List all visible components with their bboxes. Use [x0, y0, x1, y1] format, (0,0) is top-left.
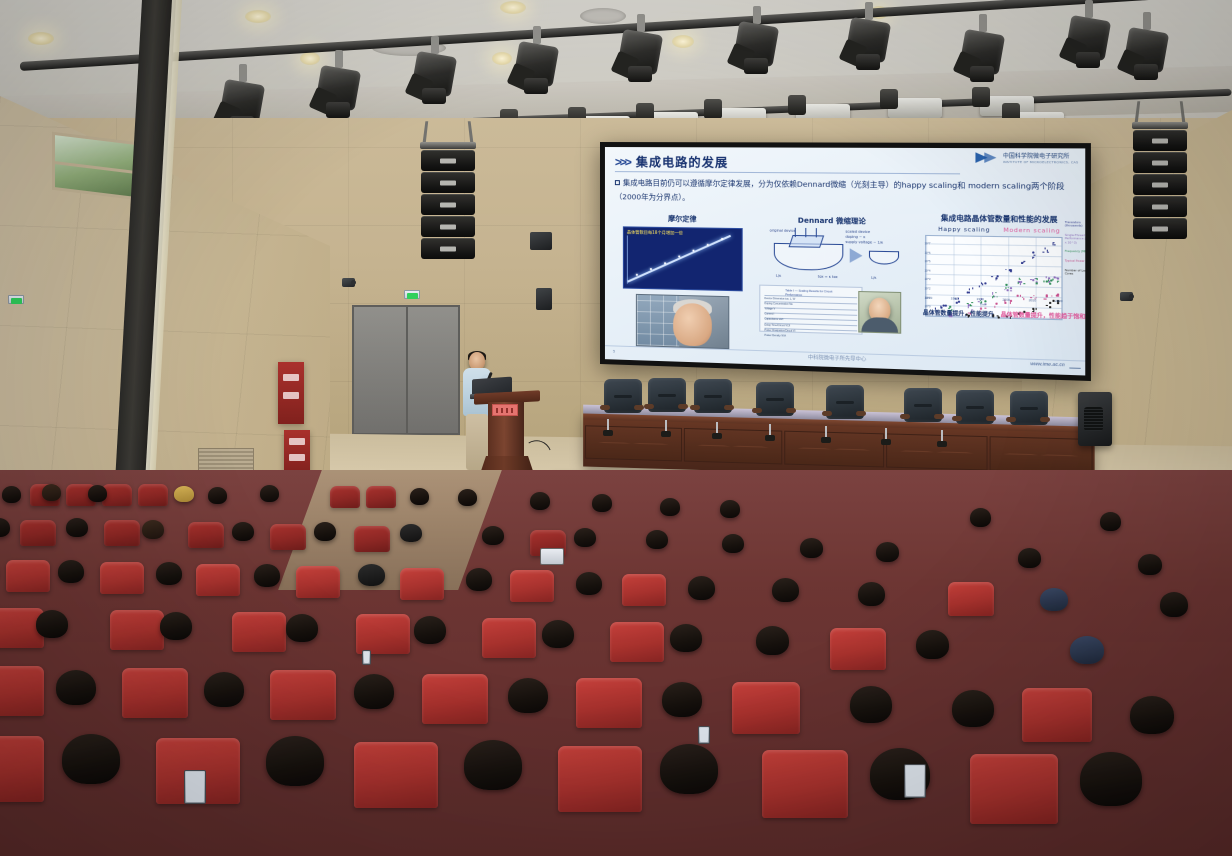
audience-head [466, 568, 492, 591]
chart-data-point [996, 302, 998, 304]
chart-data-point [1010, 290, 1012, 292]
dn-label-tox: tox = κ tox [818, 275, 838, 280]
stage-chair [822, 385, 866, 429]
stage-chair [1006, 391, 1050, 435]
theater-seat [400, 568, 444, 600]
slide-panels: 摩尔定律 晶体管数目每18个月增加一倍 [605, 213, 1085, 358]
dn-label-supply: supply voltage ~ 1/κ [845, 240, 883, 245]
exit-sign [404, 290, 420, 299]
wall-speaker [530, 232, 552, 250]
theater-seat [948, 582, 994, 616]
chart-data-point [1007, 287, 1009, 289]
lectern-nameplate [492, 404, 518, 416]
audience-head [354, 674, 394, 709]
audience-head [260, 485, 279, 502]
panel-moore: 摩尔定律 晶体管数目每18个月增加一倍 [623, 213, 743, 349]
audience-head [266, 736, 324, 786]
audience-head [592, 494, 612, 512]
chart-y-tick: 10^5 [921, 258, 931, 267]
chart-data-point [1032, 279, 1034, 281]
theater-seat [366, 486, 396, 508]
audience-head [88, 485, 107, 502]
theater-seat [188, 522, 224, 548]
panel-moore-heading: 摩尔定律 [623, 213, 743, 225]
theater-seat [354, 526, 390, 552]
chart-data-point [1019, 295, 1021, 297]
chart-data-point [1049, 283, 1051, 285]
desk-microphone [664, 421, 668, 437]
audience-head [1138, 554, 1162, 575]
chart-data-point [1036, 278, 1038, 280]
theater-seat [270, 524, 306, 550]
stage-chair [690, 379, 734, 423]
theater-seat [0, 736, 44, 802]
theater-seat [330, 486, 360, 508]
projection-screen: >>> 集成电路的发展 中国科学院微电子研究所 INSTITUTE OF MIC… [600, 142, 1091, 381]
stage-spotlight [318, 62, 360, 124]
desk-microphone [715, 423, 719, 439]
trend-phase-labels: Happy scaling Modern scaling [916, 226, 1083, 235]
logo-text: 中国科学院微电子研究所 INSTITUTE OF MICROELECTRONIC… [1003, 154, 1079, 166]
theater-seat [610, 622, 664, 662]
chart-data-point [991, 276, 993, 278]
moore-portrait [636, 294, 729, 349]
desk-microphone [768, 425, 772, 441]
wall-banner [278, 362, 304, 424]
theater-seat [196, 564, 240, 596]
theater-seat [830, 628, 886, 670]
theater-seat [122, 668, 188, 718]
lecture-hall-photo: >>> 集成电路的发展 中国科学院微电子研究所 INSTITUTE OF MIC… [0, 0, 1232, 856]
dn-table-row: Power Dissipation/Circuit VI [764, 328, 833, 333]
desk-microphone [824, 427, 828, 443]
chart-data-point [969, 288, 971, 290]
wall-speaker [536, 288, 552, 310]
audience-head [358, 564, 385, 586]
audience-head [410, 488, 429, 505]
audience-head [576, 572, 602, 595]
audience-head [1040, 588, 1068, 611]
audience-head [156, 562, 182, 585]
theater-seat [0, 666, 44, 716]
panel-trend-chart: 集成电路晶体管数量和性能的发展 Happy scaling Modern sca… [916, 213, 1083, 321]
chart-data-point [1017, 295, 1019, 297]
audience-head [160, 612, 192, 640]
chart-data-point [982, 283, 984, 285]
exit-sign [8, 295, 24, 304]
chart-data-point [1010, 287, 1012, 289]
audience-head [1070, 636, 1104, 664]
stage-chair [644, 378, 688, 422]
chart-y-tick: 10^7 [921, 240, 931, 249]
dn-arrow-icon [850, 248, 863, 263]
chart-data-point [969, 292, 971, 294]
audience-head [400, 524, 422, 542]
speaker-rigging [422, 121, 473, 144]
security-camera [1120, 292, 1133, 301]
dn-table-row: Current I [764, 312, 833, 317]
chart-data-point [1044, 248, 1046, 250]
chart-data-point [948, 307, 950, 309]
audience-head [542, 620, 574, 648]
chart-data-point [1052, 279, 1054, 281]
audience-head [58, 560, 84, 583]
dn-table-row: Power Density VI/A [764, 334, 833, 339]
chart-legend-entry: Frequency (MHz) [1065, 250, 1085, 254]
theater-seat [1022, 688, 1092, 742]
chart-data-point [995, 292, 997, 294]
slide-header: >>> 集成电路的发展 [615, 153, 728, 171]
chart-data-point [1057, 278, 1059, 280]
chart-data-point [1032, 257, 1034, 259]
chart-data-point [1054, 277, 1056, 279]
chart-data-point [958, 301, 960, 303]
audience-head [42, 484, 61, 501]
chart-data-point [1033, 308, 1035, 310]
chart-x-tick: 1980 [951, 296, 958, 300]
chart-legend-entry: Number of Logical Cores [1065, 269, 1085, 277]
chart-data-point [1007, 289, 1009, 291]
audience-head [204, 672, 244, 707]
audience-head [208, 487, 227, 504]
phase-modern-label: Modern scaling [1003, 228, 1060, 235]
audience-head [722, 534, 744, 553]
panel-dennard: Dennard 微缩理论 original device scaled devi… [759, 215, 905, 336]
stage-spotlight [736, 18, 778, 80]
chart-data-point [995, 279, 997, 281]
stage-spotlight [1126, 24, 1168, 86]
slide-page-number: 5 [613, 348, 615, 353]
audience-head [482, 526, 504, 545]
annotation-happy: 晶体管数量提升，性能提升 [923, 309, 994, 319]
theater-seat [110, 610, 164, 650]
chart-data-point [1006, 283, 1008, 285]
phase-happy-label: Happy scaling [938, 227, 990, 234]
theater-seat [354, 742, 438, 808]
dennard-scaling-table: Table I — Scaling Results for Circuit Pe… [759, 285, 862, 335]
side-door[interactable] [352, 305, 460, 435]
chart-data-point [1005, 269, 1007, 271]
audience-head [458, 489, 477, 506]
chart-data-point [1046, 250, 1048, 252]
audience-head [720, 500, 740, 518]
audience-head [646, 530, 668, 549]
desk-microphone [940, 431, 944, 447]
security-camera [342, 278, 355, 287]
chart-legend-entry: Single-Thread Performance (SpecINT x 10^… [1065, 234, 1085, 245]
slide-bullet: 集成电路目前仍可以遵循摩尔定律发展，分为仅依赖Dennard微缩（光刻主导）的h… [615, 176, 1083, 209]
theater-seat [970, 754, 1058, 824]
chart-data-point [1045, 276, 1047, 278]
moore-chart-caption: 晶体管数目每18个月增加一倍 [627, 229, 683, 236]
logo-arrow-icon [975, 152, 999, 166]
chart-legend-entry: Transistors (thousands) [1065, 221, 1085, 228]
speaker-rigging [1134, 101, 1185, 124]
chart-data-point [1035, 308, 1037, 310]
chart-x-title: Time [980, 302, 987, 306]
chart-data-point [1046, 294, 1048, 296]
chart-data-point [1057, 295, 1059, 297]
audience-head [800, 538, 823, 558]
audience-head [66, 518, 88, 537]
chart-data-point [1049, 306, 1051, 308]
audience-phone[interactable] [904, 764, 926, 798]
audience-head [1130, 696, 1174, 734]
stage-chair [752, 382, 796, 426]
theater-seat [232, 612, 286, 652]
chart-y-axis: 10^710^610^510^410^310^210^110^0 [921, 240, 931, 314]
audience-head [1160, 592, 1188, 617]
chart-x-tick: 1970 [925, 296, 932, 300]
theater-seat [270, 670, 336, 720]
theater-seat [296, 566, 340, 598]
chart-y-tick: 10^3 [921, 276, 931, 285]
audience-head [1080, 752, 1142, 806]
chart-data-point [941, 306, 943, 308]
audience-head [662, 682, 702, 717]
chart-data-point [1033, 252, 1035, 254]
audience-head [36, 610, 68, 638]
audience-head [314, 522, 336, 541]
chart-data-point [1022, 263, 1024, 265]
theater-seat [762, 750, 848, 818]
pan-light [888, 98, 942, 118]
chart-data-point [985, 282, 987, 284]
audience-head [1100, 512, 1121, 531]
chart-x-tick: 2000 [1002, 298, 1009, 302]
dn-label-right: L/κ [871, 276, 876, 280]
audience-head [232, 522, 254, 541]
chart-data-point [971, 302, 973, 304]
slide-title: 集成电路的发展 [636, 153, 728, 171]
audience-head [2, 486, 21, 503]
chart-data-point [1047, 305, 1049, 307]
theater-seat [20, 520, 56, 546]
chart-data-point [985, 307, 987, 309]
chevron-icon: >>> [615, 155, 630, 169]
stage-chair [600, 379, 644, 423]
audience-head [508, 678, 548, 713]
stage-spotlight [516, 38, 558, 100]
theater-seat [6, 560, 50, 592]
stage-spotlight [414, 48, 456, 110]
dn-label-left: L/κ [776, 274, 781, 278]
moore-law-chart: 晶体管数目每18个月增加一倍 [623, 226, 743, 291]
audience-head [858, 582, 885, 606]
chart-data-point [1010, 271, 1012, 273]
audience-head [916, 630, 949, 659]
theater-seat [100, 562, 144, 594]
theater-seat [138, 484, 168, 506]
dn-table-row: Doping Concentration Na [764, 302, 833, 307]
stage-spotlight [1068, 12, 1110, 74]
slide-footer-url: www.ime.ac.cn [1030, 361, 1064, 367]
audience-head [56, 670, 96, 705]
stage-chair [900, 388, 944, 432]
stage-spotlight [620, 26, 662, 88]
chart-x-tick: 1990 [976, 297, 983, 301]
audience-head [286, 614, 318, 642]
audience-head [1018, 548, 1041, 568]
clerestory-window [55, 135, 135, 197]
chart-data-point [1010, 302, 1012, 304]
chart-data-point [1051, 295, 1053, 297]
theater-seat [510, 570, 554, 602]
audience-phone[interactable] [184, 770, 206, 804]
stage-spotlight [962, 26, 1004, 88]
chart-data-point [995, 277, 997, 279]
chart-data-point [1004, 289, 1006, 291]
audience-head [756, 626, 789, 655]
audience-head [670, 624, 702, 652]
microprocessor-trend-chart: 10^710^610^510^410^310^210^110^0 [925, 235, 1062, 320]
chart-data-point [972, 288, 974, 290]
theater-seat [576, 678, 642, 728]
stage-monitor-speaker [1078, 392, 1112, 446]
chart-data-point [1023, 283, 1025, 285]
audience-head [660, 744, 718, 794]
chart-data-point [967, 306, 969, 308]
panel-dennard-heading: Dennard 微缩理论 [759, 215, 905, 227]
stage-spotlight [848, 14, 890, 76]
chart-data-point [1033, 295, 1035, 297]
theater-seat [732, 682, 800, 734]
audience-head [660, 498, 680, 516]
theater-seat [622, 574, 666, 606]
chart-x-tick: 2020 [1055, 299, 1063, 303]
chart-data-point [1057, 280, 1059, 282]
chart-data-point [970, 305, 972, 307]
chart-x-tick: 2010 [1029, 298, 1036, 302]
dennard-scaling-diagram: original device scaled device doping ~ κ… [759, 228, 905, 284]
audience-head [970, 508, 991, 527]
panel-trend-heading: 集成电路晶体管数量和性能的发展 [916, 213, 1083, 226]
audience-head [952, 690, 994, 727]
theater-seat [482, 618, 536, 658]
dn-label-doping: doping ~ κ [845, 235, 865, 239]
chart-data-point [1043, 251, 1045, 253]
theater-seat [104, 520, 140, 546]
presentation-slide: >>> 集成电路的发展 中国科学院微电子研究所 INSTITUTE OF MIC… [605, 147, 1085, 375]
bullet-square-icon [615, 180, 620, 185]
annotation-modern: 晶体管数量提升，性能趋于饱和 [1001, 311, 1086, 322]
audience-phone[interactable] [698, 726, 710, 744]
audience-head [876, 542, 899, 562]
dennard-portrait [858, 291, 901, 334]
desk-microphone [606, 420, 610, 436]
chart-y-tick: 10^4 [921, 267, 931, 276]
theater-seat [356, 614, 410, 654]
audience-head [850, 686, 892, 723]
chart-data-point [978, 285, 980, 287]
audience-head [254, 564, 280, 587]
chart-data-point [1054, 244, 1056, 246]
chart-y-tick: 10^6 [921, 249, 931, 258]
audience-head [530, 492, 550, 510]
audience-head [174, 486, 194, 502]
title-divider [615, 171, 960, 174]
chart-data-point [967, 304, 969, 306]
dn-label-original: original device [770, 228, 796, 232]
audience-phone[interactable] [362, 650, 371, 665]
chart-legend: Transistors (thousands)Single-Thread Per… [1065, 221, 1085, 283]
theater-seat [422, 674, 488, 724]
chart-data-point [1020, 283, 1022, 285]
desk-microphone [884, 429, 888, 445]
audience-head [688, 576, 715, 600]
audience-head [574, 528, 596, 547]
audience-head [414, 616, 446, 644]
chart-data-point [945, 305, 947, 307]
dn-table-row: Voltage V [764, 307, 833, 312]
audience-head [142, 520, 164, 539]
slide-footer-center: 中科院微电子所先导中心 [808, 354, 866, 363]
audience-head [62, 734, 120, 784]
audience-head [464, 740, 522, 790]
audience-head [772, 578, 799, 602]
institute-logo: 中国科学院微电子研究所 INSTITUTE OF MICROELECTRONIC… [975, 152, 1078, 166]
stage-chair [952, 390, 996, 434]
chart-data-point [1004, 302, 1006, 304]
chart-data-point [967, 291, 969, 293]
chart-legend-entry: Typical Power (Watts) [1065, 260, 1085, 264]
chart-y-tick: 10^2 [921, 285, 931, 294]
audience-tablet[interactable] [540, 548, 564, 565]
theater-seat [558, 746, 642, 812]
dn-label-scaled: scaled device [845, 230, 870, 235]
